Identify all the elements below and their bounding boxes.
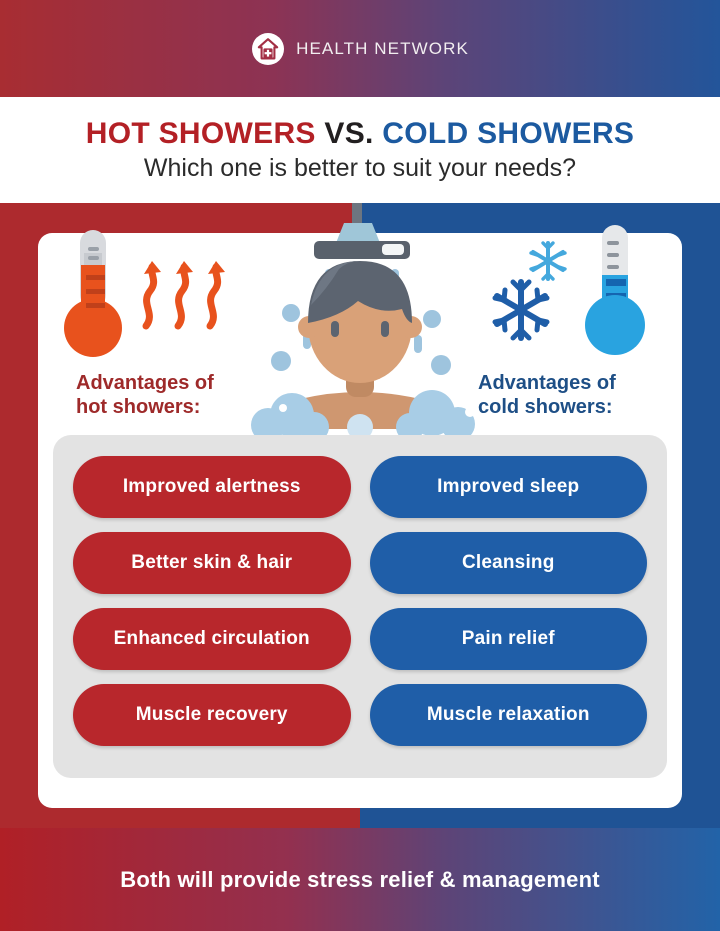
house-medical-cross-icon (251, 32, 285, 66)
list-item[interactable]: Muscle recovery (73, 684, 351, 746)
hot-column-label: Advantages of hot showers: (76, 371, 214, 420)
list-item[interactable]: Improved alertness (73, 456, 351, 518)
list-item[interactable]: Enhanced circulation (73, 608, 351, 670)
title-vs-part: VS. (324, 117, 373, 150)
list-item[interactable]: Muscle relaxation (370, 684, 648, 746)
title-cold-part: COLD SHOWERS (382, 117, 634, 150)
cold-column-label: Advantages of cold showers: (478, 371, 616, 420)
list-item[interactable]: Pain relief (370, 608, 648, 670)
footer-banner: Both will provide stress relief & manage… (0, 828, 720, 931)
list-item[interactable]: Cleansing (370, 532, 648, 594)
brand-name: HEALTH NETWORK (296, 39, 469, 59)
cold-benefits-list: Improved sleep Cleansing Pain relief Mus… (370, 456, 648, 757)
body-area: Advantages of hot showers: Advantages of… (0, 203, 720, 828)
title-hot-part: HOT SHOWERS (86, 117, 316, 150)
page-title: HOT SHOWERS VS. COLD SHOWERS (86, 118, 634, 150)
brand-lockup: HEALTH NETWORK (251, 32, 469, 66)
list-item[interactable]: Better skin & hair (73, 532, 351, 594)
title-band: HOT SHOWERS VS. COLD SHOWERS Which one i… (0, 97, 720, 203)
benefits-panel: Improved alertness Better skin & hair En… (53, 435, 667, 778)
footer-text: Both will provide stress relief & manage… (120, 867, 599, 893)
hot-benefits-list: Improved alertness Better skin & hair En… (73, 456, 351, 757)
infographic-poster: HEALTH NETWORK HOT SHOWERS VS. COLD SHOW… (0, 0, 720, 931)
top-banner: HEALTH NETWORK (0, 0, 720, 97)
list-item[interactable]: Improved sleep (370, 456, 648, 518)
page-subtitle: Which one is better to suit your needs? (144, 155, 576, 183)
